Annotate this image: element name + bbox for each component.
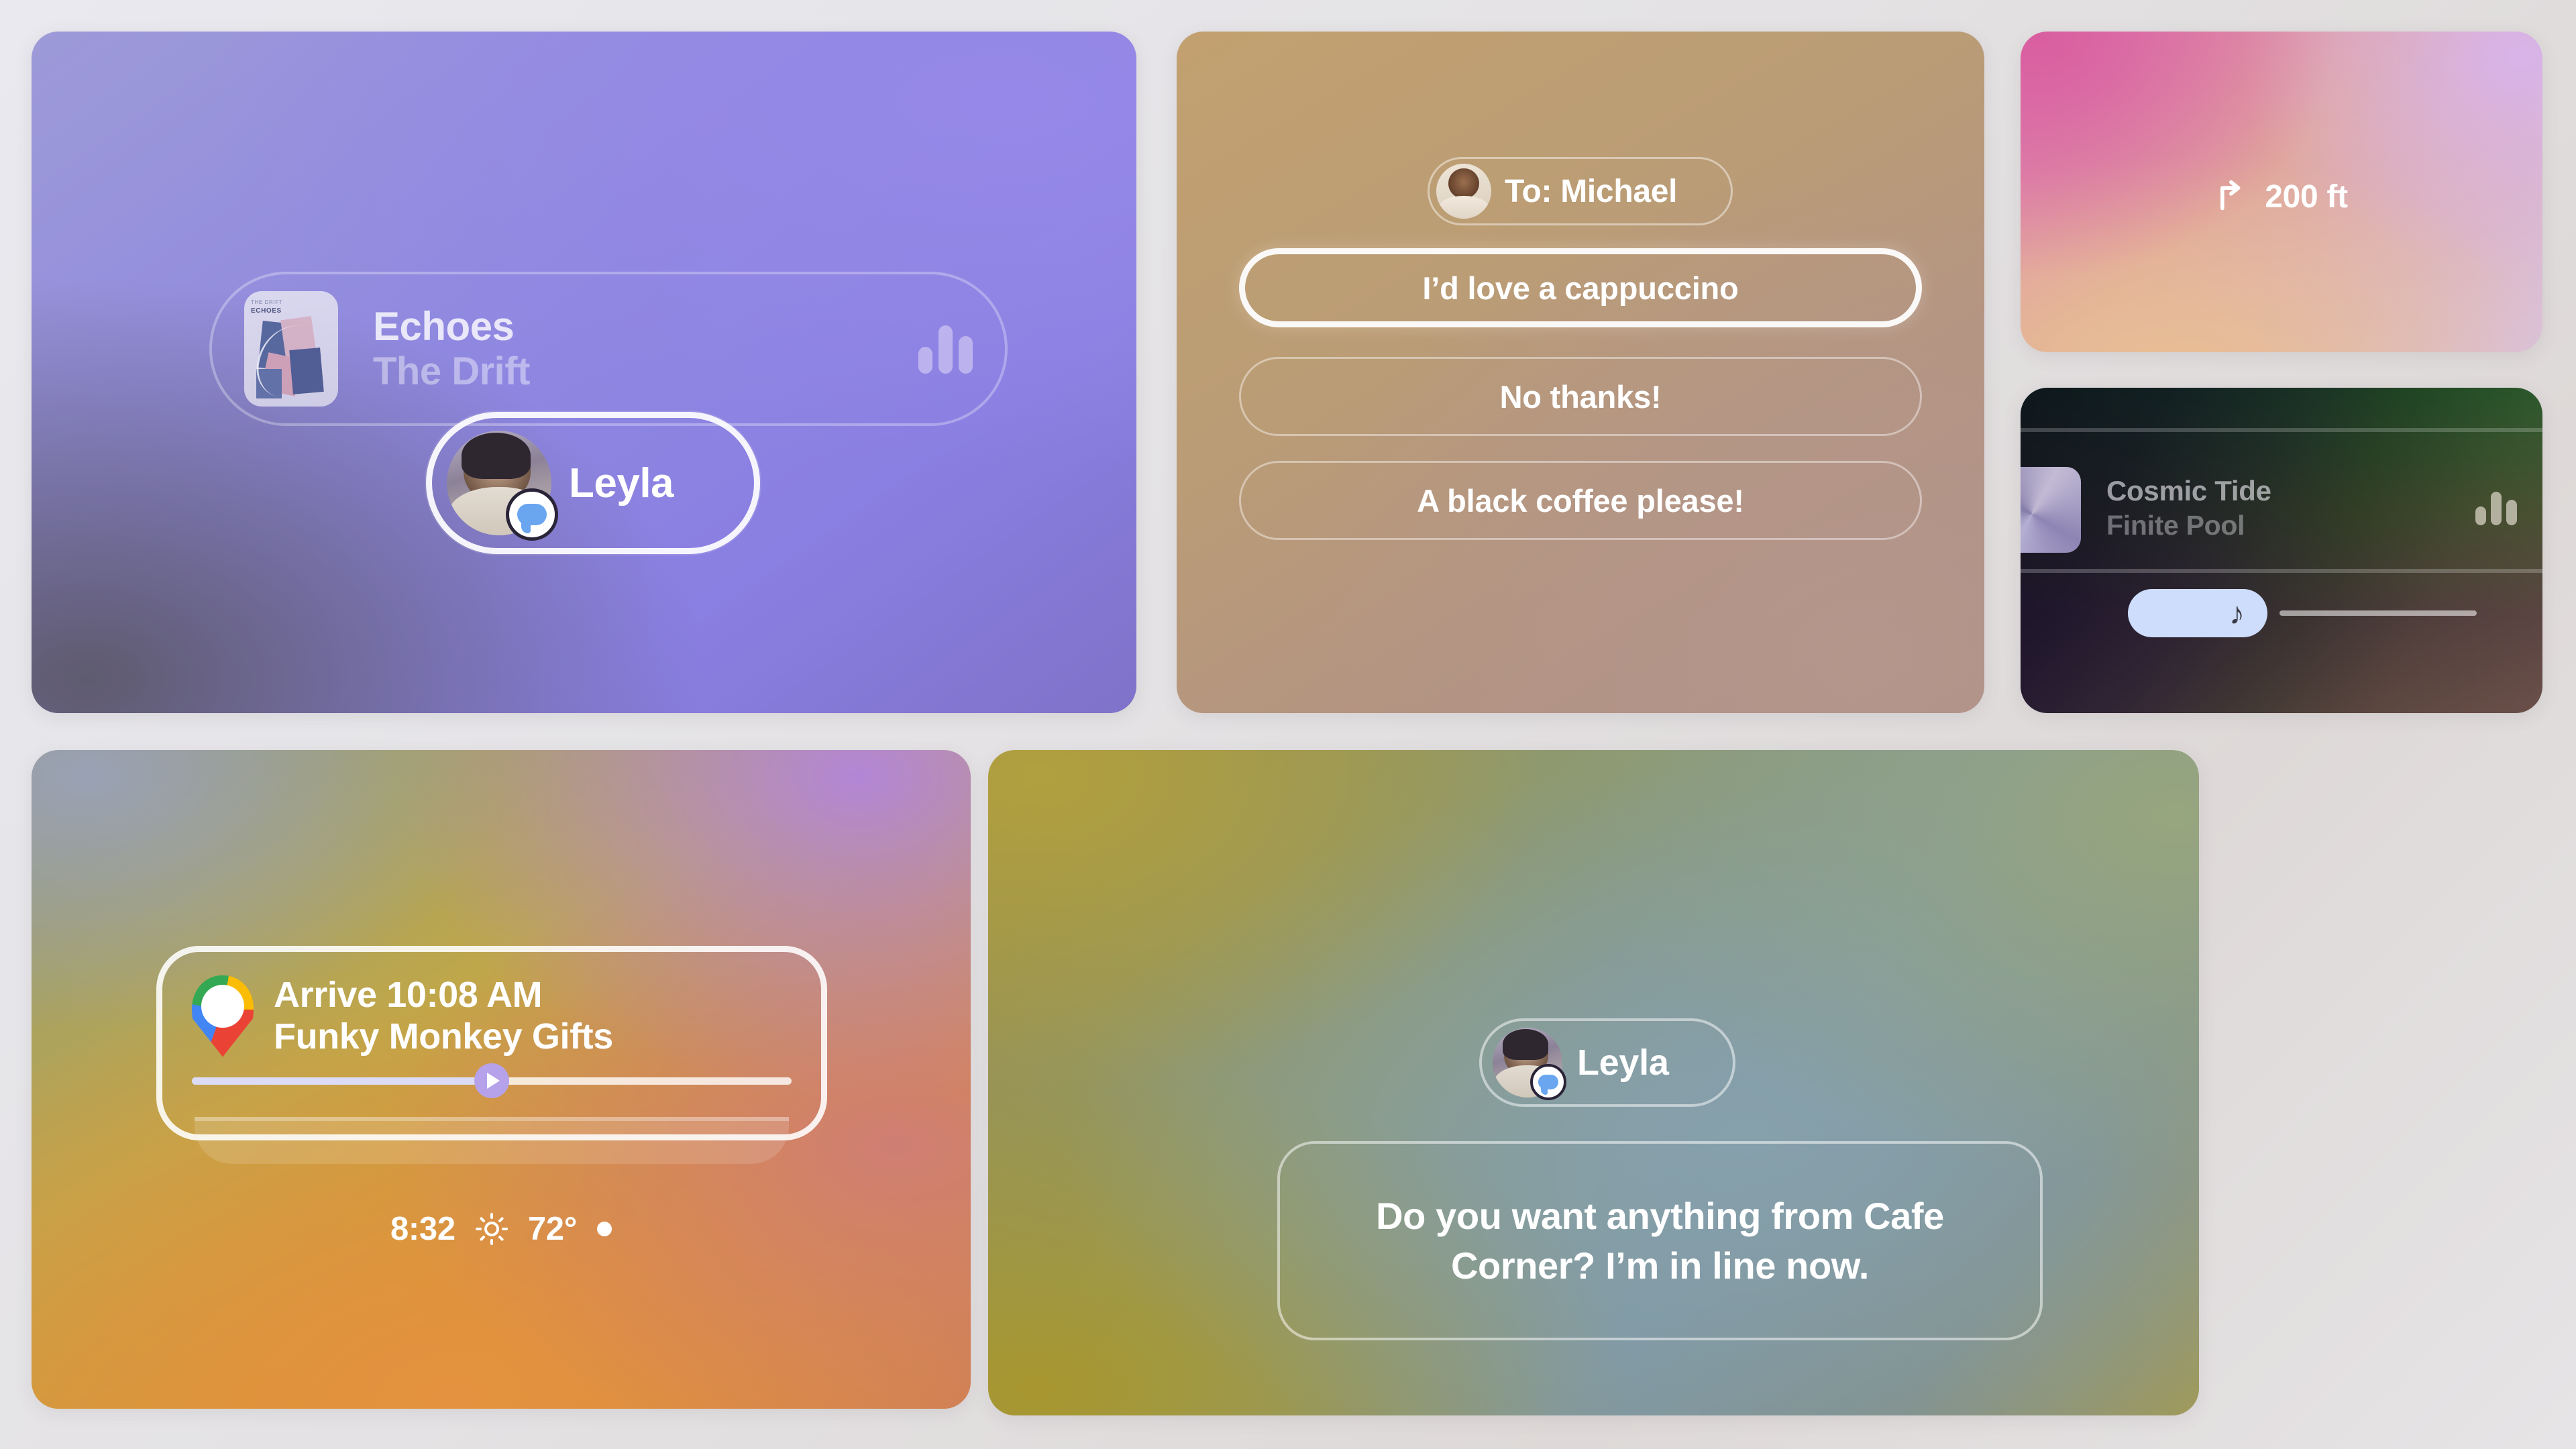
progress-fill bbox=[192, 1077, 492, 1085]
status-temperature: 72° bbox=[528, 1210, 577, 1248]
maneuver-row: 200 ft bbox=[2021, 178, 2542, 216]
track-title: Echoes bbox=[373, 305, 918, 347]
music-note-icon: ♪ bbox=[2229, 598, 2245, 629]
avatar bbox=[1493, 1028, 1562, 1097]
avatar bbox=[447, 431, 551, 535]
status-row: 8:32 72° bbox=[32, 1210, 971, 1248]
messages-badge-icon bbox=[506, 488, 558, 541]
track-artist: The Drift bbox=[373, 352, 918, 392]
messages-badge-icon bbox=[1530, 1064, 1566, 1100]
incoming-message-card[interactable]: Leyla Do you want anything from Cafe Cor… bbox=[988, 750, 2199, 1415]
track-artist: Finite Pool bbox=[2106, 510, 2271, 541]
arrival-header: Arrive 10:08 AM Funky Monkey Gifts bbox=[192, 975, 792, 1057]
slider-track[interactable] bbox=[2279, 610, 2477, 616]
arrival-pill[interactable]: Arrive 10:08 AM Funky Monkey Gifts bbox=[156, 946, 827, 1140]
navigation-maneuver-card[interactable]: 200 ft bbox=[2021, 32, 2542, 352]
album-art-label-title: ECHOES bbox=[251, 307, 282, 315]
sender-pill[interactable]: Leyla bbox=[1479, 1018, 1735, 1107]
turn-right-icon bbox=[2215, 178, 2250, 216]
status-time: 8:32 bbox=[390, 1210, 455, 1248]
screen: THE DRIFT ECHOES Echoes The Drift Leyla bbox=[0, 0, 2576, 1449]
message-bubble[interactable]: Do you want anything from Cafe Corner? I… bbox=[1277, 1141, 2043, 1340]
sun-icon bbox=[476, 1213, 508, 1245]
sender-name: Leyla bbox=[1577, 1042, 1669, 1083]
smart-reply-card[interactable]: To: Michael I’d love a cappuccino No tha… bbox=[1177, 32, 1984, 713]
now-playing-meta: Echoes The Drift bbox=[373, 305, 918, 392]
navigation-arrow-icon[interactable] bbox=[474, 1063, 509, 1098]
recipient-label: To: Michael bbox=[1505, 173, 1677, 210]
arrival-destination: Funky Monkey Gifts bbox=[274, 1016, 613, 1058]
slider-knob[interactable]: ♪ bbox=[2128, 589, 2267, 637]
cosmic-tide-player-card[interactable]: Cosmic Tide Finite Pool ♪ bbox=[2021, 388, 2542, 713]
divider-top bbox=[2021, 428, 2542, 432]
recipient-pill[interactable]: To: Michael bbox=[1428, 157, 1733, 225]
cosmic-meta: Cosmic Tide Finite Pool bbox=[2106, 475, 2271, 541]
contact-name: Leyla bbox=[569, 460, 674, 507]
divider-bottom bbox=[2021, 569, 2542, 573]
smart-reply-option-1[interactable]: I’d love a cappuccino bbox=[1239, 248, 1922, 327]
album-art-label-artist: THE DRIFT bbox=[251, 299, 282, 305]
now-playing-and-contact-card[interactable]: THE DRIFT ECHOES Echoes The Drift Leyla bbox=[32, 32, 1136, 713]
maneuver-distance: 200 ft bbox=[2265, 178, 2348, 215]
smart-reply-option-3[interactable]: A black coffee please! bbox=[1239, 461, 1922, 540]
contact-pill-leyla[interactable]: Leyla bbox=[426, 412, 760, 554]
now-playing-pill[interactable]: THE DRIFT ECHOES Echoes The Drift bbox=[209, 272, 1008, 426]
equalizer-icon bbox=[918, 324, 973, 374]
equalizer-icon bbox=[2475, 492, 2517, 525]
track-title: Cosmic Tide bbox=[2106, 475, 2271, 507]
maps-arrival-card[interactable]: Arrive 10:08 AM Funky Monkey Gifts 8:32 … bbox=[32, 750, 971, 1409]
volume-slider[interactable]: ♪ bbox=[2128, 589, 2517, 637]
album-art-cosmic-tide bbox=[2021, 467, 2081, 553]
message-text: Do you want anything from Cafe Corner? I… bbox=[1320, 1191, 2000, 1291]
album-art-echoes: THE DRIFT ECHOES bbox=[244, 291, 338, 407]
status-dot-icon bbox=[597, 1222, 612, 1236]
avatar bbox=[1436, 164, 1491, 219]
route-progress-slider[interactable] bbox=[192, 1063, 792, 1097]
map-pin-icon bbox=[192, 975, 254, 1057]
smart-reply-option-2[interactable]: No thanks! bbox=[1239, 357, 1922, 436]
arrival-eta: Arrive 10:08 AM bbox=[274, 975, 613, 1016]
arrival-text: Arrive 10:08 AM Funky Monkey Gifts bbox=[274, 975, 613, 1057]
